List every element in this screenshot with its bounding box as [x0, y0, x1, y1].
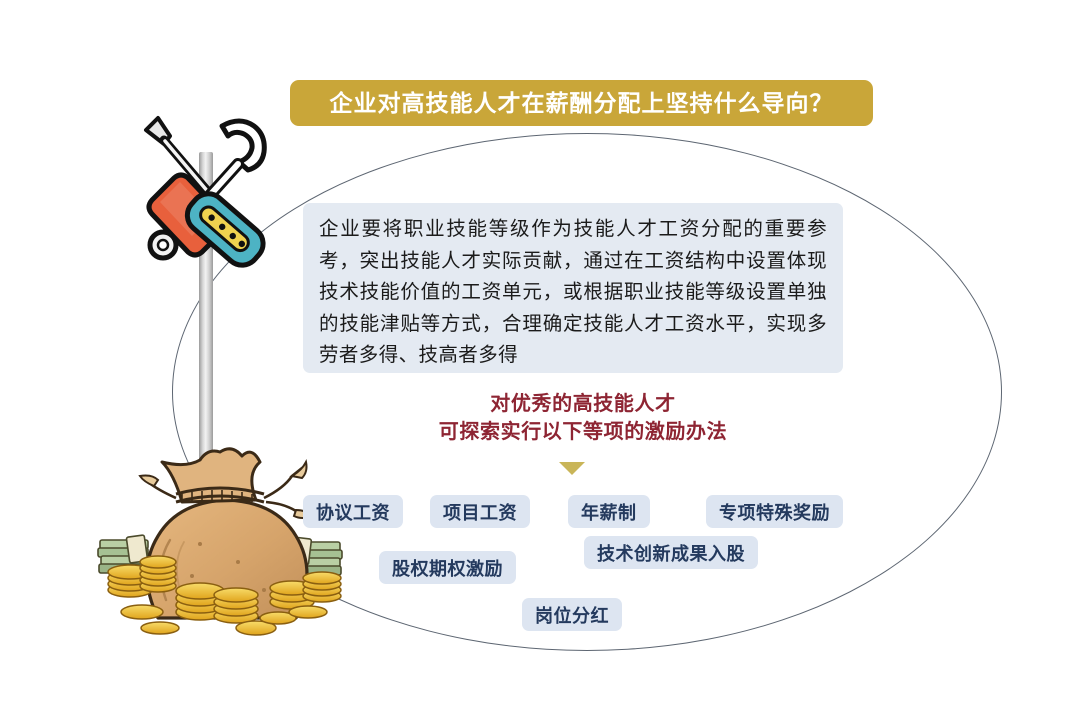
callout-line-2: 可探索实行以下等项的激励办法 — [303, 418, 863, 446]
wrench-screwdriver-icon — [136, 112, 286, 277]
body-text-box: 企业要将职业技能等级作为技能人才工资分配的重要参考，突出技能人才实际贡献，通过在… — [303, 203, 843, 373]
pill-label: 技术创新成果入股 — [597, 540, 745, 566]
incentive-pill-agreed-wage[interactable]: 协议工资 — [303, 495, 403, 528]
callout-line-1: 对优秀的高技能人才 — [303, 390, 863, 418]
pill-label: 项目工资 — [443, 499, 517, 525]
title-banner: 企业对高技能人才在薪酬分配上坚持什么导向？ — [290, 80, 873, 126]
pill-label: 年薪制 — [581, 499, 637, 525]
callout-heading: 对优秀的高技能人才 可探索实行以下等项的激励办法 — [303, 390, 863, 446]
infographic-canvas: 企业对高技能人才在薪酬分配上坚持什么导向？ 企业要将职业技能等级作为技能人才工资… — [0, 0, 1080, 706]
pill-label: 岗位分红 — [535, 602, 609, 628]
incentive-pill-tech-innovation-equity[interactable]: 技术创新成果入股 — [584, 536, 758, 569]
body-paragraph: 企业要将职业技能等级作为技能人才工资分配的重要参考，突出技能人才实际贡献，通过在… — [319, 214, 827, 372]
incentive-pill-post-dividend[interactable]: 岗位分红 — [522, 598, 622, 631]
triangle-down-icon — [559, 462, 585, 475]
incentive-pill-project-wage[interactable]: 项目工资 — [430, 495, 530, 528]
pill-label: 协议工资 — [316, 499, 390, 525]
incentive-pill-special-award[interactable]: 专项特殊奖励 — [706, 495, 843, 528]
page-title: 企业对高技能人才在薪酬分配上坚持什么导向？ — [330, 92, 834, 115]
pill-label: 专项特殊奖励 — [719, 499, 830, 525]
pill-label: 股权期权激励 — [392, 555, 503, 581]
money-bag-icon — [96, 440, 361, 640]
incentive-pill-annual-salary[interactable]: 年薪制 — [568, 495, 650, 528]
incentive-pill-equity-option[interactable]: 股权期权激励 — [379, 551, 516, 584]
